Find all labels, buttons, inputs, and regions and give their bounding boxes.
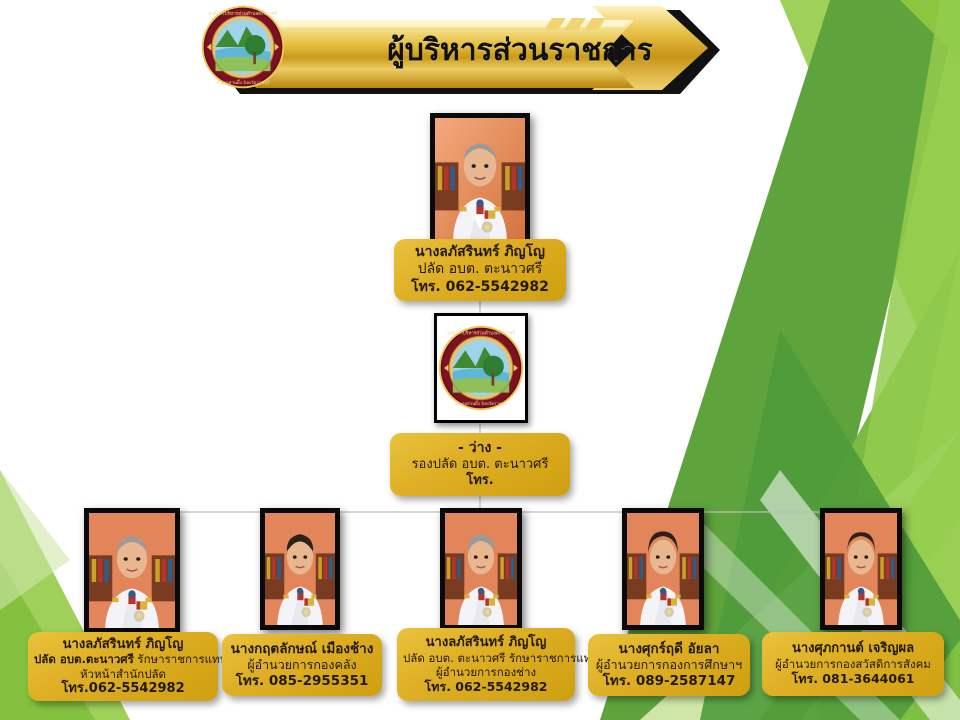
portrait-photo-division-3 — [440, 508, 522, 630]
card-division-3[interactable]: นางลภัสรินทร์ ภิญโญ ปลัด อบต. ตะนาวศรี ร… — [397, 628, 575, 701]
card-phone: โทร. 062-5542982 — [400, 279, 560, 296]
card-position-bold: ปลัด อบต.ตะนาวศรี — [34, 652, 134, 666]
card-position: ผู้อำนวยการกองสวัสดิการสังคม — [768, 657, 938, 671]
card-position: ปลัด อบต.ตะนาวศรี รักษาราชการแทน — [34, 652, 212, 666]
card-phone: โทร. 085-2955351 — [228, 673, 376, 689]
card-name: นางศุภกานต์ เจริญผล — [768, 641, 938, 657]
slide-canvas: องค์การบริหารส่วนตำบลตะนาวศรี อำเภอสวนผึ… — [0, 0, 960, 720]
header-banner: องค์การบริหารส่วนตำบลตะนาวศรี อำเภอสวนผึ… — [200, 4, 740, 108]
card-phone: โทร. 089-2587147 — [594, 673, 744, 689]
page-title: ผู้บริหารส่วนราชการ — [330, 32, 710, 70]
card-deputy[interactable]: - ว่าง - รองปลัด อบต. ตะนาวศรี โทร. — [390, 433, 570, 496]
card-phone: โทร. 062-5542982 — [403, 679, 569, 694]
card-position: ปลัด อบต. ตะนาวศรี รักษาราชการแทน — [403, 651, 569, 665]
card-position-line2: ผู้อำนวยการกองช่าง — [403, 665, 569, 679]
portrait-photo-top — [430, 113, 530, 245]
card-top-executive[interactable]: นางลภัสรินทร์ ภิญโญ ปลัด อบต. ตะนาวศรี โ… — [394, 239, 566, 301]
card-phone: โทร. 081-3644061 — [768, 671, 938, 686]
header-emblem-icon: องค์การบริหารส่วนตำบลตะนาวศรี อำเภอสวนผึ… — [200, 4, 286, 90]
card-phone: โทร. — [396, 473, 564, 489]
portrait-photo-division-5 — [820, 508, 902, 630]
card-position: ผู้อำนวยการกองคลัง — [228, 657, 376, 672]
card-division-2[interactable]: นางกฤตลักษณ์ เมืองช้าง ผู้อำนวยการกองคลั… — [222, 634, 382, 696]
card-position: ปลัด อบต. ตะนาวศรี — [400, 261, 560, 278]
card-position: ผู้อำนวยการกองการศึกษาฯ — [594, 657, 744, 672]
card-name: นางลภัสรินทร์ ภิญโญ — [403, 635, 569, 651]
card-name: - ว่าง - — [396, 440, 564, 457]
card-position: รองปลัด อบต. ตะนาวศรี — [396, 457, 564, 473]
card-division-4[interactable]: นางศุกร์ฤดี อัยลา ผู้อำนวยการกองการศึกษา… — [588, 634, 750, 696]
card-position-line2: หัวหน้าสำนักปลัด — [34, 667, 212, 681]
portrait-image-top — [435, 118, 525, 240]
portrait-photo-division-2 — [260, 508, 340, 630]
card-name: นางกฤตลักษณ์ เมืองช้าง — [228, 641, 376, 657]
portrait-photo-division-1 — [84, 508, 180, 633]
card-name: นางลภัสรินทร์ ภิญโญ — [400, 244, 560, 261]
deputy-emblem-icon: องค์การบริหารส่วนตำบลตะนาวศรี อำเภอสวนผึ… — [437, 316, 525, 420]
card-name: นางลภัสรินทร์ ภิญโญ — [34, 637, 212, 653]
emblem-box-deputy: องค์การบริหารส่วนตำบลตะนาวศรี อำเภอสวนผึ… — [434, 313, 528, 423]
card-division-5[interactable]: นางศุภกานต์ เจริญผล ผู้อำนวยการกองสวัสดิ… — [762, 632, 944, 696]
card-name: นางศุกร์ฤดี อัยลา — [594, 641, 744, 657]
card-division-1[interactable]: นางลภัสรินทร์ ภิญโญ ปลัด อบต.ตะนาวศรี รั… — [28, 632, 218, 701]
card-position-rest: รักษาราชการแทน — [134, 652, 228, 666]
card-phone: โทร.062-5542982 — [34, 681, 212, 697]
portrait-photo-division-4 — [622, 508, 704, 630]
